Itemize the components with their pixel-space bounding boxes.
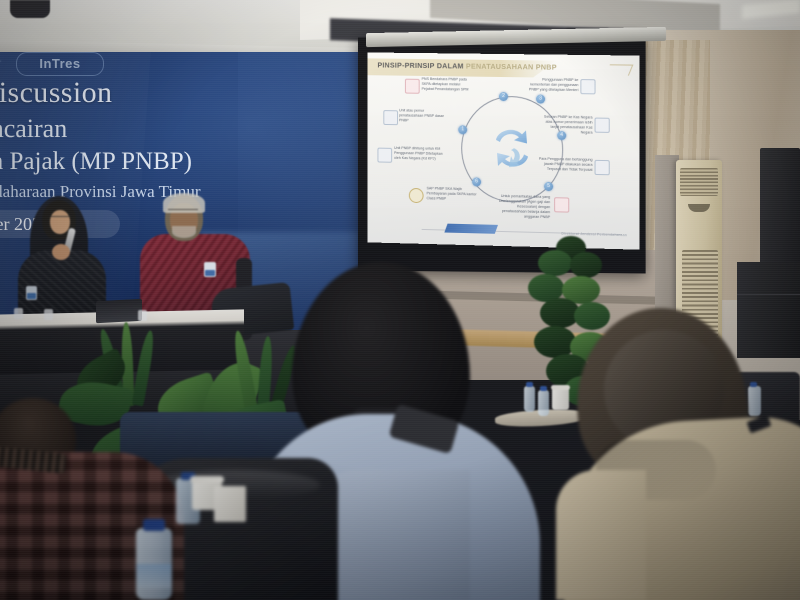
banner-title-line1: up Discussion [0, 76, 358, 110]
slide-blurb-1: PNS Bendahara PNBP pada SKPA ditetapkan … [422, 77, 473, 93]
panelist-right-glasses [168, 209, 198, 216]
table-cup-2 [44, 309, 53, 320]
paper-cup-table [552, 388, 569, 410]
pa-speaker-lower [737, 262, 800, 358]
slide-blurb-5: Penggunaan PNBP ke kementerian dan pengg… [524, 77, 578, 93]
slide-icon-document [405, 79, 420, 94]
slide-blurb-3: Unit PNBP dihitung untuk KM Penggunaan P… [394, 146, 445, 162]
slide-icon-receipt [595, 118, 610, 133]
slide-blurb-7: Para Pengguna dan bertanggung jawab PNBP… [538, 157, 592, 173]
pa-speaker-upper [760, 148, 800, 266]
slide-icon-report [595, 160, 610, 175]
panelist-right-id-badge [204, 262, 216, 277]
panelist-right-beard [172, 226, 196, 238]
recycle-arrows-icon [484, 120, 540, 177]
table-cup-1 [14, 308, 23, 319]
banner-logo: InTres [16, 52, 104, 76]
cycle-node-5: 5 [544, 182, 553, 191]
ceiling-speaker-icon [10, 0, 50, 18]
ac-brand-badge [688, 204, 710, 212]
panelist-left-id-badge [26, 286, 37, 300]
slide-title-highlight: PENATAUSAHAAN PNBP [466, 62, 557, 72]
seminar-room-photo: ~ InTres up Discussion m Pencairan Bukan… [0, 0, 800, 600]
cycle-node-2: 2 [499, 92, 508, 101]
slide-footer-bar [444, 224, 498, 234]
banner-date: 10 ember 2024 [0, 214, 182, 235]
slide-blurb-2: Unit atau pemur penatausahaan PNBP dasar… [399, 108, 446, 124]
slide-icon-list [580, 79, 595, 94]
audience-right-arm [556, 470, 646, 600]
water-bottle-right [748, 386, 761, 416]
cycle-node-3: 3 [536, 95, 545, 104]
slide-icon-calendar [383, 110, 398, 125]
water-bottle-foreground-1 [136, 528, 172, 600]
ac-top-grill [680, 168, 718, 196]
speaker-seam [737, 294, 800, 295]
slide-blurb-6: Setoran PNBP ke Kas Negara atas nomor pe… [538, 115, 592, 136]
presentation-slide: PINSIP-PRINSIP DALAM PENATAUSAHAAN PNBP … [368, 52, 640, 249]
slide-icon-chart [377, 148, 392, 163]
water-bottle-table-1 [524, 386, 535, 412]
panelist-left-glasses [51, 216, 70, 222]
panelist-left-face [50, 210, 70, 234]
slide-blurb-4: SAP PNBP SKA Wajib Pembayaran pada SKPA … [427, 186, 479, 202]
tissue-box [214, 486, 246, 522]
panelist-left-hand [52, 244, 70, 260]
banner-title-line2: m Pencairan [0, 114, 358, 144]
cycle-node-6: 6 [472, 177, 481, 186]
slide-title-plain: PINSIP-PRINSIP DALAM [377, 60, 465, 70]
slide-blurb-8: Untuk pemanfaatan dana yang Diselenggara… [496, 194, 550, 221]
water-bottle-table-2 [538, 390, 549, 416]
slide-corner-mark [605, 64, 633, 75]
cycle-node-1: 1 [458, 125, 467, 134]
slide-icon-clipboard [554, 197, 569, 212]
banner-secondary-logo: ~ [0, 56, 14, 68]
banner-title-line3: Bukan Pajak (MP PNBP) [0, 148, 358, 176]
slide-icon-seal [409, 188, 424, 203]
